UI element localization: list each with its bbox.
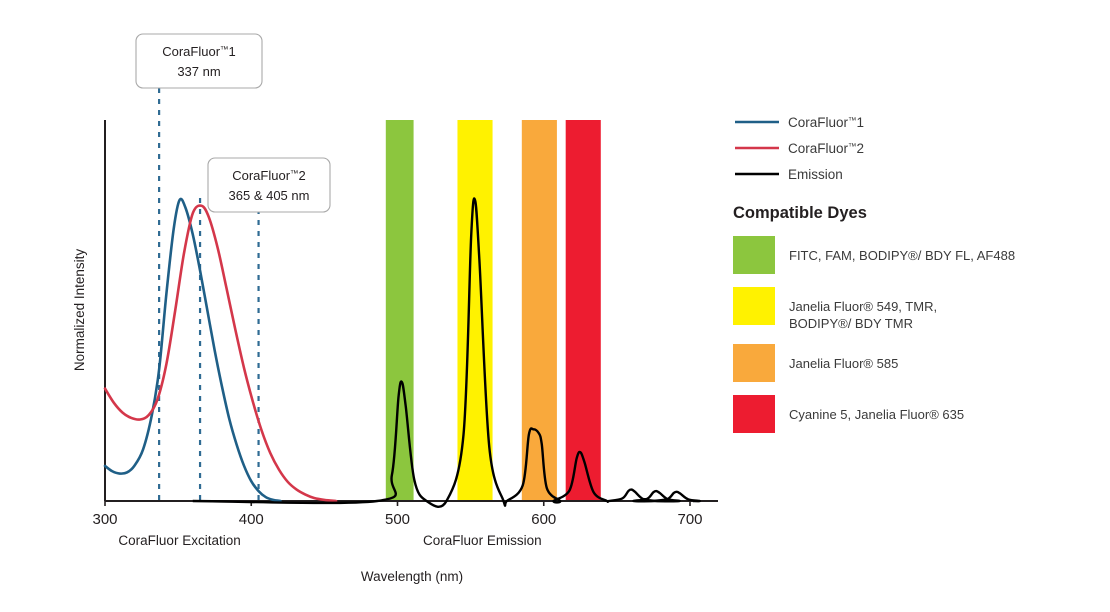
x-tick-label: 300 — [92, 511, 117, 528]
y-axis-title: Normalized Intensity — [72, 249, 87, 372]
callout-box — [136, 34, 262, 88]
dye-label-line1: FITC, FAM, BODIPY®/ BDY FL, AF488 — [789, 248, 1015, 263]
dye-item-3: Cyanine 5, Janelia Fluor® 635 — [733, 395, 964, 433]
dye-item-1: Janelia Fluor® 549, TMR,BODIPY®/ BDY TMR — [733, 287, 937, 331]
curve-series-0 — [105, 199, 281, 501]
x-tick-label: 400 — [239, 511, 264, 528]
axis-region-label-0: CoraFluor Excitation — [118, 533, 240, 548]
dye-label-line1: Cyanine 5, Janelia Fluor® 635 — [789, 407, 964, 422]
compatible-dyes: Compatible DyesFITC, FAM, BODIPY®/ BDY F… — [733, 204, 1015, 433]
dye-swatch — [733, 236, 775, 274]
callout-box — [208, 158, 330, 212]
annotation-guides — [159, 88, 258, 501]
callouts: CoraFluor™1337 nmCoraFluor™2365 & 405 nm — [136, 34, 330, 212]
dye-bands — [386, 120, 601, 501]
x-tick-label: 500 — [385, 511, 410, 528]
dye-item-2: Janelia Fluor® 585 — [733, 344, 898, 382]
dye-swatch — [733, 287, 775, 325]
red-band — [566, 120, 601, 501]
x-tick-label: 700 — [677, 511, 702, 528]
dye-label-line1: Janelia Fluor® 549, TMR, — [789, 299, 937, 314]
dyes-heading: Compatible Dyes — [733, 204, 867, 222]
callout-value: 337 nm — [177, 64, 220, 79]
legend-entry-1: CoraFluor™2 — [735, 141, 864, 156]
curve-emission — [193, 198, 700, 506]
x-tick-label: 600 — [531, 511, 556, 528]
callout-2: CoraFluor™2365 & 405 nm — [208, 158, 330, 212]
dye-item-0: FITC, FAM, BODIPY®/ BDY FL, AF488 — [733, 236, 1015, 274]
callout-1: CoraFluor™1337 nm — [136, 34, 262, 88]
legend-entry-2: Emission — [735, 167, 843, 182]
legend-label: Emission — [788, 167, 843, 182]
x-axis-title: Wavelength (nm) — [361, 569, 463, 584]
callout-value: 365 & 405 nm — [229, 188, 310, 203]
legend: CoraFluor™1CoraFluor™2Emission — [735, 115, 864, 182]
spectra-figure: 300400500600700CoraFluor™1337 nmCoraFluo… — [0, 0, 1110, 612]
legend-label: CoraFluor™1 — [788, 115, 864, 130]
axis-region-label-1: CoraFluor Emission — [423, 533, 542, 548]
legend-entry-0: CoraFluor™1 — [735, 115, 864, 130]
dye-label-line1: Janelia Fluor® 585 — [789, 356, 898, 371]
dye-swatch — [733, 344, 775, 382]
legend-label: CoraFluor™2 — [788, 141, 864, 156]
dye-swatch — [733, 395, 775, 433]
dye-label-line2: BODIPY®/ BDY TMR — [789, 316, 913, 331]
